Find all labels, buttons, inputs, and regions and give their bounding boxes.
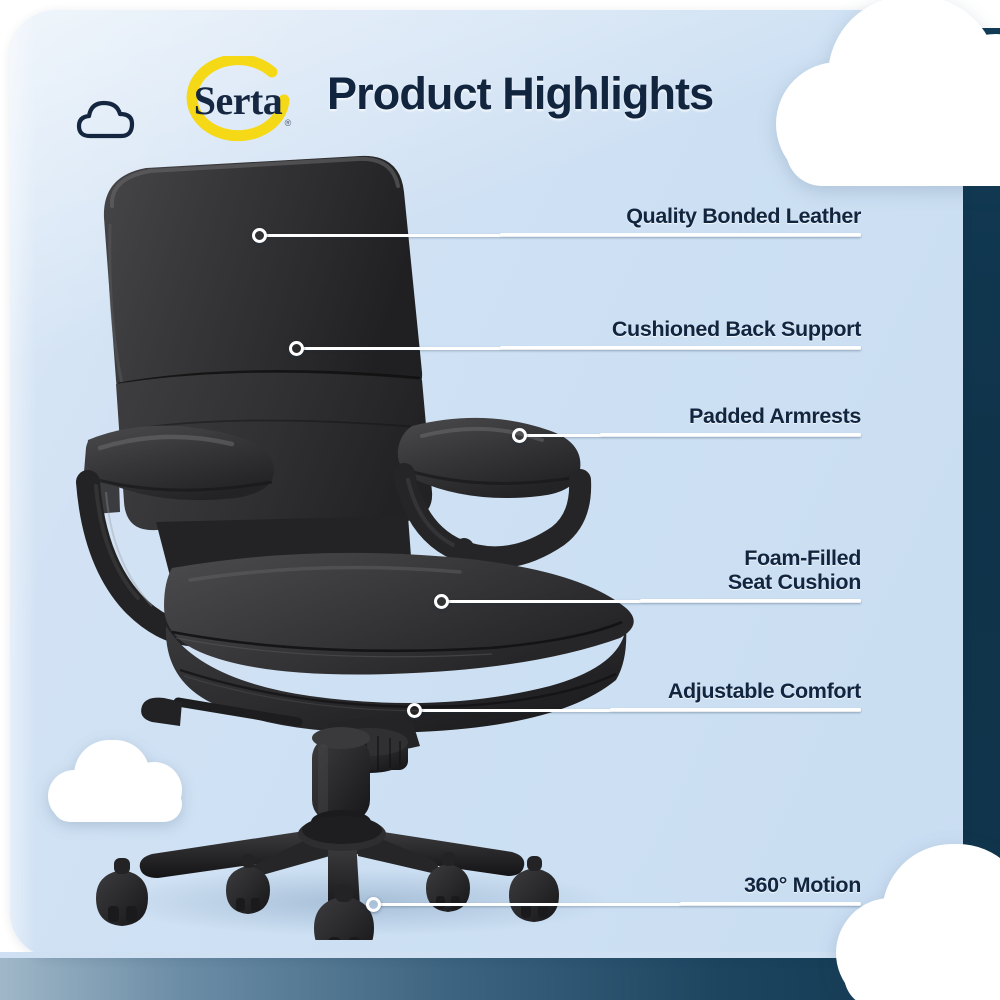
leader-dot-cushioned-back-support — [289, 341, 304, 356]
feature-underline-quality-bonded-leather — [500, 233, 861, 236]
feature-callout-360-motion: 360° Motion — [680, 865, 861, 905]
serta-logo: Serta ® — [176, 56, 304, 148]
feature-label-padded-armrests: Padded Armrests — [689, 404, 861, 428]
feature-callout-padded-armrests: Padded Armrests — [600, 396, 861, 436]
feature-underline-cushioned-back-support — [500, 346, 861, 349]
feature-callout-adjustable-comfort: Adjustable Comfort — [610, 671, 861, 711]
feature-label-foam-filled-seat-cushion: Foam-Filled Seat Cushion — [728, 546, 861, 594]
feature-label-360-motion: 360° Motion — [744, 873, 861, 897]
page-title: Product Highlights — [327, 68, 713, 120]
feature-underline-360-motion — [680, 902, 861, 905]
leader-dot-foam-filled-seat-cushion — [434, 594, 449, 609]
feature-label-line-2: Seat Cushion — [728, 570, 861, 594]
registered-mark: ® — [285, 118, 292, 128]
feature-label-cushioned-back-support: Cushioned Back Support — [612, 317, 861, 341]
leader-dot-padded-armrests — [512, 428, 527, 443]
panel-edge-highlight — [10, 10, 36, 958]
cloud-outline-icon — [74, 96, 142, 140]
feature-callout-quality-bonded-leather: Quality Bonded Leather — [500, 196, 861, 236]
feature-underline-adjustable-comfort — [610, 708, 861, 711]
panel-bottom-mask — [0, 952, 963, 958]
feature-label-adjustable-comfort: Adjustable Comfort — [668, 679, 861, 703]
leader-dot-adjustable-comfort — [407, 703, 422, 718]
infographic-root: Serta ® Product Highlights Quality Bonde… — [0, 0, 1000, 1000]
feature-underline-foam-filled-seat-cushion — [640, 599, 861, 602]
cloud-decoration-top-right — [776, 0, 1000, 199]
cloud-decoration-bottom-right — [836, 836, 1000, 1000]
feature-callout-cushioned-back-support: Cushioned Back Support — [500, 309, 861, 349]
feature-label-quality-bonded-leather: Quality Bonded Leather — [626, 204, 861, 228]
leader-dot-quality-bonded-leather — [252, 228, 267, 243]
feature-label-line-1: Foam-Filled — [744, 546, 861, 570]
feature-underline-padded-armrests — [600, 433, 861, 436]
leader-dot-360-motion — [366, 897, 381, 912]
serta-wordmark: Serta — [194, 78, 283, 123]
feature-callout-foam-filled-seat-cushion: Foam-Filled Seat Cushion — [640, 534, 861, 602]
cloud-decoration-bottom-left — [48, 736, 184, 822]
